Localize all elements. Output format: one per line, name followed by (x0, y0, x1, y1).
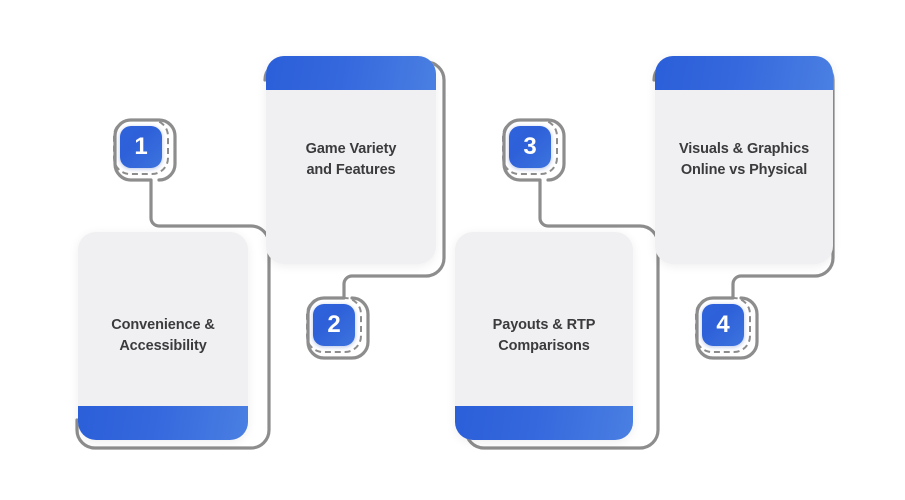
step-card-1[interactable]: Convenience & Accessibility (78, 232, 248, 440)
badge-chip: 1 (120, 126, 162, 168)
step-badge-2[interactable]: 2 (306, 297, 362, 353)
card-accent-bar (455, 406, 633, 440)
infographic-canvas: Convenience & Accessibility Game Variety… (0, 0, 905, 500)
step-card-label: Convenience & Accessibility (99, 315, 226, 357)
badge-chip: 3 (509, 126, 551, 168)
badge-chip: 2 (313, 304, 355, 346)
step-card-2[interactable]: Game Variety and Features (266, 56, 436, 264)
badge-number: 4 (716, 313, 729, 337)
badge-number: 2 (327, 313, 340, 337)
step-badge-4[interactable]: 4 (695, 297, 751, 353)
badge-chip: 4 (702, 304, 744, 346)
card-accent-bar (266, 56, 436, 90)
badge-number: 3 (523, 135, 536, 159)
step-card-4[interactable]: Visuals & Graphics Online vs Physical (655, 56, 833, 264)
card-accent-bar (78, 406, 248, 440)
step-badge-1[interactable]: 1 (113, 119, 169, 175)
step-card-label: Visuals & Graphics Online vs Physical (667, 139, 821, 181)
badge-number: 1 (134, 135, 147, 159)
step-card-label: Payouts & RTP Comparisons (481, 315, 608, 357)
step-card-label: Game Variety and Features (294, 139, 409, 181)
step-badge-3[interactable]: 3 (502, 119, 558, 175)
card-accent-bar (655, 56, 833, 90)
step-card-3[interactable]: Payouts & RTP Comparisons (455, 232, 633, 440)
